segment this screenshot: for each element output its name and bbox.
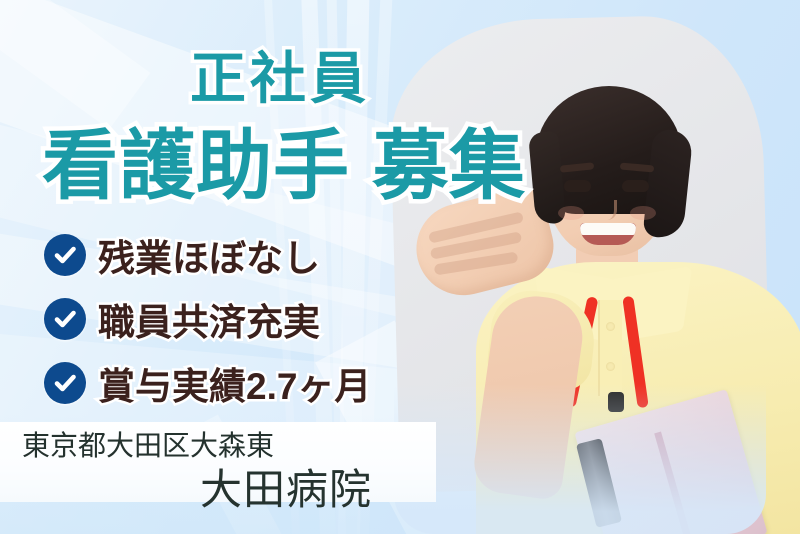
list-item: 残業ほぼなし	[44, 228, 371, 282]
shirt-button	[606, 362, 615, 371]
benefits-list: 残業ほぼなし 職員共済充実 賞与実績2.7ヶ月	[44, 228, 371, 410]
teeth	[580, 223, 636, 235]
organization-name: 大田病院	[200, 456, 372, 517]
photo-bottom-fade	[394, 384, 766, 534]
eye-left	[564, 180, 591, 192]
job-ad-banner: 正社員 看護助手 募集 残業ほぼなし 職員共済充実	[0, 0, 800, 534]
page-title: 看護助手 募集	[42, 104, 526, 214]
list-item: 職員共済充実	[44, 292, 371, 346]
list-item: 賞与実績2.7ヶ月	[44, 356, 371, 410]
cheek-right	[630, 206, 656, 220]
staff-photo	[380, 0, 800, 534]
employment-type-label: 正社員	[190, 34, 370, 115]
check-circle-icon	[44, 362, 86, 404]
eye-right	[622, 180, 649, 192]
check-circle-icon	[44, 234, 86, 276]
shirt-button	[606, 322, 615, 331]
list-item-label: 賞与実績2.7ヶ月	[98, 356, 371, 410]
check-circle-icon	[44, 298, 86, 340]
shirt-placket	[598, 300, 622, 396]
cheek-left	[558, 206, 584, 220]
smiling-mouth	[580, 223, 636, 245]
list-item-label: 残業ほぼなし	[98, 228, 320, 282]
list-item-label: 職員共済充実	[98, 292, 320, 346]
